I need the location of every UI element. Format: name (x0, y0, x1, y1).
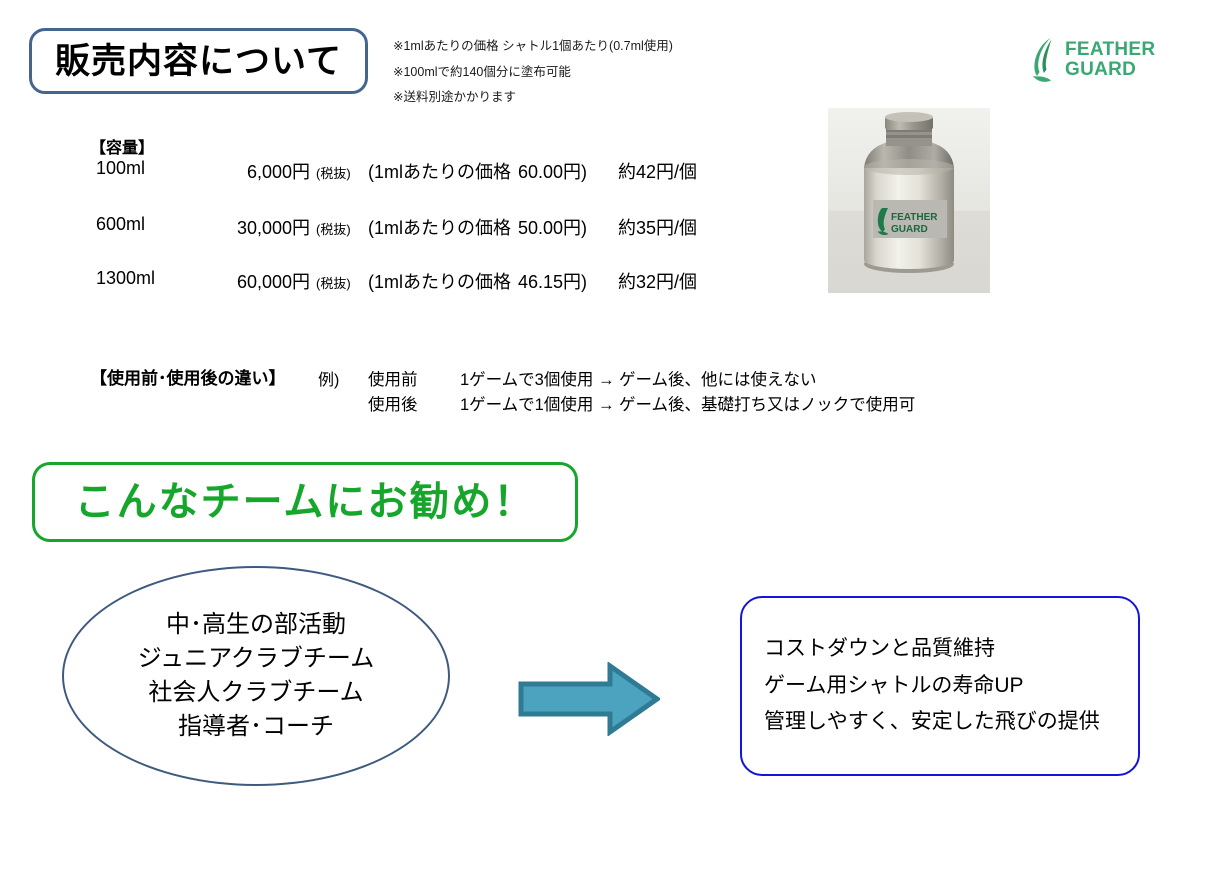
price-row: 1300ml 60,000円 (税抜) (1mlあたりの価格46.15円) 約3… (0, 268, 1219, 294)
logo-line-1: FEATHER (1065, 40, 1155, 60)
usage-example-marker: 例) (318, 366, 339, 390)
price-notes-list: ※1mlあたりの価格 シャトル1個あたり(0.7ml使用) ※100mlで約14… (393, 34, 733, 111)
usage-phase: 使用後 (368, 391, 418, 415)
benefits-box: コストダウンと品質維持 ゲーム用シャトルの寿命UP 管理しやすく、安定した飛びの… (740, 596, 1140, 776)
price-per-ml-label: (1mlあたりの価格 (368, 162, 511, 182)
product-photo: FEATHER GUARD (828, 108, 990, 293)
price-per-ml: (1mlあたりの価格60.00円) (368, 158, 608, 184)
right-arrow-icon (518, 662, 660, 736)
note-item: ※送料別途かかります (393, 85, 733, 111)
price-per-ml-value: 46.15円) (511, 268, 587, 294)
note-item: ※100mlで約140個分に塗布可能 (393, 60, 733, 86)
brand-logo: FEATHER GUARD (1029, 32, 1179, 88)
slide-canvas: 販売内容について ※1mlあたりの価格 シャトル1個あたり(0.7ml使用) ※… (0, 0, 1219, 869)
price-per-unit: 約42円/個 (618, 158, 697, 184)
recommendation-banner: こんなチームにお勧め！ (32, 462, 578, 542)
usage-section-label: 【使用前･使用後の違い】 (90, 364, 286, 389)
benefit-line: コストダウンと品質維持 (764, 631, 1138, 668)
benefit-line: 管理しやすく、安定した飛びの提供 (764, 704, 1138, 741)
target-audience-line: 中･高生の部活動 (166, 608, 346, 642)
price-row: 600ml 30,000円 (税抜) (1mlあたりの価格50.00円) 約35… (0, 214, 1219, 240)
page-title: 販売内容について (55, 44, 342, 79)
usage-detail: 1ゲームで1個使用 → ゲーム後、基礎打ち又はノックで使用可 (460, 391, 915, 415)
price-per-ml-value: 50.00円) (511, 214, 587, 240)
price-amount: 60,000円 (180, 268, 310, 294)
price-amount: 6,000円 (180, 158, 310, 184)
feather-icon (1029, 36, 1059, 84)
target-audience-ellipse: 中･高生の部活動 ジュニアクラブチーム 社会人クラブチーム 指導者･コーチ (62, 566, 450, 786)
usage-phase: 使用前 (368, 366, 418, 390)
price-per-unit: 約35円/個 (618, 214, 697, 240)
price-per-unit: 約32円/個 (618, 268, 697, 294)
recommendation-heading: こんなチームにお勧め！ (75, 482, 536, 522)
price-row: 100ml 6,000円 (税抜) (1mlあたりの価格60.00円) 約42円… (0, 158, 1219, 184)
target-audience-line: 社会人クラブチーム (148, 676, 363, 710)
product-can-illustration: FEATHER GUARD (828, 108, 990, 293)
usage-detail: 1ゲームで3個使用 → ゲーム後、他には使えない (460, 366, 817, 390)
price-per-ml: (1mlあたりの価格50.00円) (368, 214, 608, 240)
section-title-box: 販売内容について (29, 28, 368, 94)
price-per-ml: (1mlあたりの価格46.15円) (368, 268, 608, 294)
price-tax-note: (税抜) (316, 219, 351, 238)
logo-wordmark: FEATHER GUARD (1065, 40, 1155, 80)
price-tax-note: (税抜) (316, 163, 351, 182)
price-per-ml-label: (1mlあたりの価格 (368, 218, 511, 238)
capacity-section-label: 【容量】 (90, 134, 154, 158)
target-audience-line: ジュニアクラブチーム (138, 642, 374, 676)
price-amount: 30,000円 (180, 214, 310, 240)
price-per-ml-label: (1mlあたりの価格 (368, 272, 511, 292)
benefit-line: ゲーム用シャトルの寿命UP (764, 668, 1138, 705)
price-tax-note: (税抜) (316, 273, 351, 292)
note-item: ※1mlあたりの価格 シャトル1個あたり(0.7ml使用) (393, 34, 733, 60)
price-per-ml-value: 60.00円) (511, 158, 587, 184)
logo-line-2: GUARD (1065, 60, 1155, 80)
target-audience-line: 指導者･コーチ (178, 710, 334, 744)
